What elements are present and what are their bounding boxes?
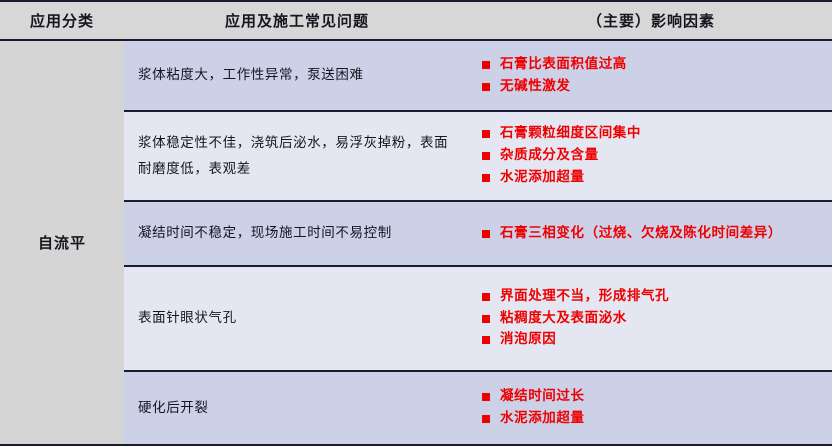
factors-cell: 石膏颗粒细度区间集中杂质成分及含量水泥添加超量 xyxy=(470,112,832,200)
factor-text: 石膏颗粒细度区间集中 xyxy=(500,123,824,145)
table-body: 自流平 浆体粘度大，工作性异常，泵送困难石膏比表面积值过高无碱性激发浆体稳定性不… xyxy=(0,41,832,446)
factor-list-item: 水泥添加超量 xyxy=(482,167,824,189)
factor-text: 石膏比表面积值过高 xyxy=(500,54,824,76)
column-header-issues: 应用及施工常见问题 xyxy=(124,2,470,39)
issue-text: 硬化后开裂 xyxy=(138,395,209,421)
square-bullet-icon xyxy=(482,393,490,401)
table-row: 浆体稳定性不佳，浇筑后泌水，易浮灰掉粉，表面耐磨度低，表观差石膏颗粒细度区间集中… xyxy=(124,112,832,202)
square-bullet-icon xyxy=(482,415,490,423)
factor-list-item: 石膏颗粒细度区间集中 xyxy=(482,123,824,145)
square-bullet-icon xyxy=(482,61,490,69)
factor-list-item: 粘稠度大及表面泌水 xyxy=(482,308,824,330)
factor-text: 石膏三相变化（过烧、欠烧及陈化时间差异） xyxy=(500,223,824,245)
issue-cell: 浆体稳定性不佳，浇筑后泌水，易浮灰掉粉，表面耐磨度低，表观差 xyxy=(124,112,470,200)
factor-text: 杂质成分及含量 xyxy=(500,145,824,167)
column-header-issues-label: 应用及施工常见问题 xyxy=(225,10,369,31)
factor-list-item: 杂质成分及含量 xyxy=(482,145,824,167)
application-issues-table: 应用分类 应用及施工常见问题 （主要）影响因素 自流平 浆体粘度大，工作性异常，… xyxy=(0,0,832,446)
category-cell-label: 自流平 xyxy=(38,232,86,253)
square-bullet-icon xyxy=(482,230,490,238)
factor-text: 粘稠度大及表面泌水 xyxy=(500,308,824,330)
issue-text: 浆体粘度大，工作性异常，泵送困难 xyxy=(138,62,364,88)
factor-text: 无碱性激发 xyxy=(500,76,824,98)
table-rows-container: 浆体粘度大，工作性异常，泵送困难石膏比表面积值过高无碱性激发浆体稳定性不佳，浇筑… xyxy=(124,41,832,446)
square-bullet-icon xyxy=(482,130,490,138)
category-cell: 自流平 xyxy=(0,41,124,446)
column-header-category: 应用分类 xyxy=(0,2,124,39)
issue-cell: 浆体粘度大，工作性异常，泵送困难 xyxy=(124,41,470,110)
factors-cell: 石膏比表面积值过高无碱性激发 xyxy=(470,41,832,110)
table-row: 表面针眼状气孔界面处理不当，形成排气孔粘稠度大及表面泌水消泡原因 xyxy=(124,267,832,372)
column-header-factors-label: （主要）影响因素 xyxy=(587,10,715,31)
factor-text: 凝结时间过长 xyxy=(500,386,824,408)
table-row: 浆体粘度大，工作性异常，泵送困难石膏比表面积值过高无碱性激发 xyxy=(124,41,832,112)
issue-cell: 凝结时间不稳定，现场施工时间不易控制 xyxy=(124,202,470,265)
square-bullet-icon xyxy=(482,83,490,91)
factor-list-item: 水泥添加超量 xyxy=(482,408,824,430)
issue-cell: 硬化后开裂 xyxy=(124,372,470,444)
column-header-factors: （主要）影响因素 xyxy=(470,2,832,39)
factor-list-item: 消泡原因 xyxy=(482,329,824,351)
factor-list-item: 凝结时间过长 xyxy=(482,386,824,408)
table-header-row: 应用分类 应用及施工常见问题 （主要）影响因素 xyxy=(0,0,832,41)
factor-text: 水泥添加超量 xyxy=(500,167,824,189)
issue-text: 凝结时间不稳定，现场施工时间不易控制 xyxy=(138,220,392,246)
factors-cell: 界面处理不当，形成排气孔粘稠度大及表面泌水消泡原因 xyxy=(470,267,832,370)
square-bullet-icon xyxy=(482,152,490,160)
issue-cell: 表面针眼状气孔 xyxy=(124,267,470,370)
square-bullet-icon xyxy=(482,293,490,301)
factor-text: 消泡原因 xyxy=(500,329,824,351)
column-header-category-label: 应用分类 xyxy=(30,10,94,31)
factor-list-item: 石膏比表面积值过高 xyxy=(482,54,824,76)
table-row: 凝结时间不稳定，现场施工时间不易控制石膏三相变化（过烧、欠烧及陈化时间差异） xyxy=(124,202,832,267)
square-bullet-icon xyxy=(482,174,490,182)
issue-text: 表面针眼状气孔 xyxy=(138,305,237,331)
factor-list-item: 界面处理不当，形成排气孔 xyxy=(482,286,824,308)
factor-text: 界面处理不当，形成排气孔 xyxy=(500,286,824,308)
table-row: 硬化后开裂凝结时间过长水泥添加超量 xyxy=(124,372,832,446)
factors-cell: 凝结时间过长水泥添加超量 xyxy=(470,372,832,444)
issue-text: 浆体稳定性不佳，浇筑后泌水，易浮灰掉粉，表面耐磨度低，表观差 xyxy=(138,130,456,183)
factor-list-item: 无碱性激发 xyxy=(482,76,824,98)
factor-list-item: 石膏三相变化（过烧、欠烧及陈化时间差异） xyxy=(482,223,824,245)
factors-cell: 石膏三相变化（过烧、欠烧及陈化时间差异） xyxy=(470,202,832,265)
square-bullet-icon xyxy=(482,336,490,344)
square-bullet-icon xyxy=(482,315,490,323)
factor-text: 水泥添加超量 xyxy=(500,408,824,430)
